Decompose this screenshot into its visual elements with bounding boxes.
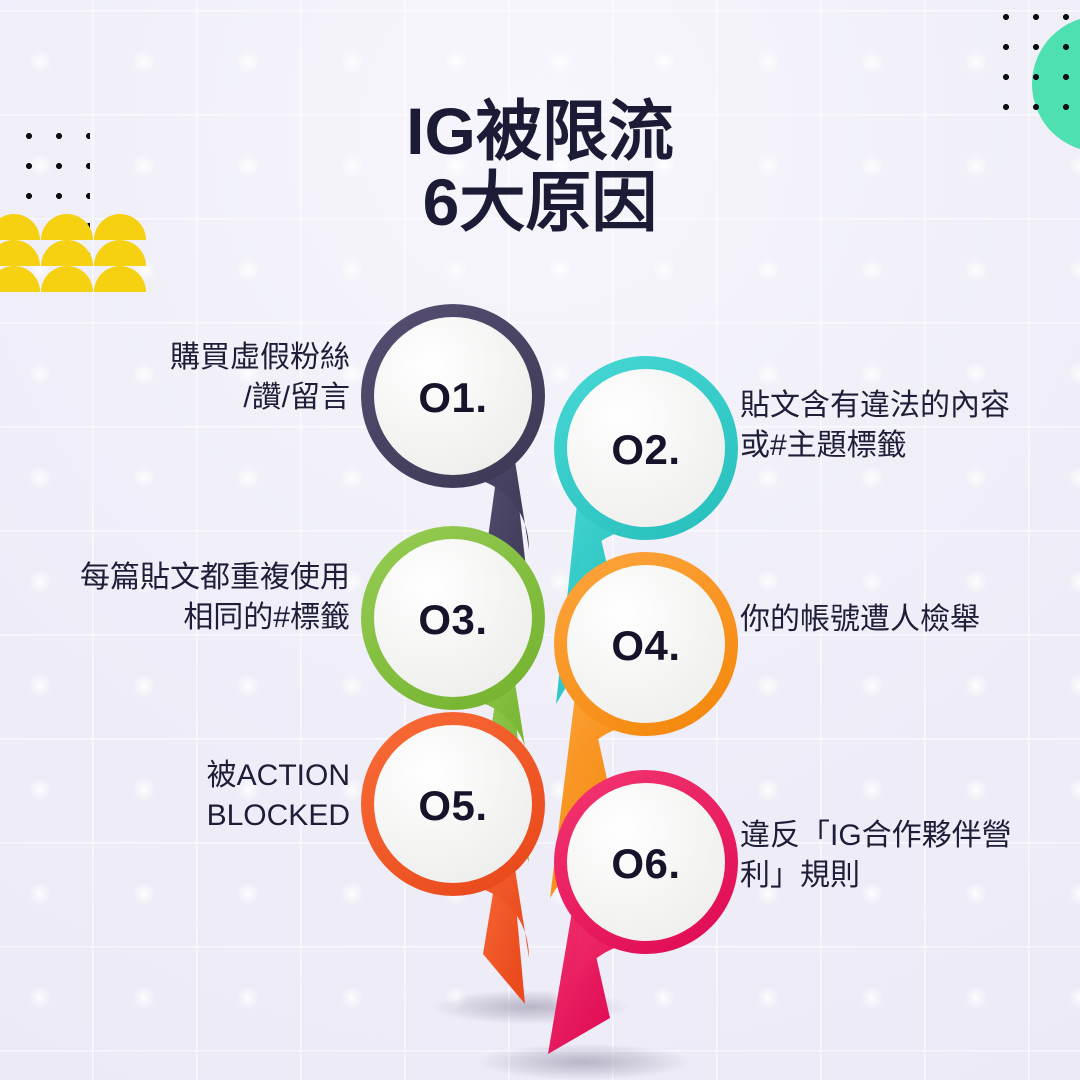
label-item-05: 被ACTION BLOCKED: [60, 756, 350, 835]
dome-shape: [94, 240, 146, 266]
label-item-04: 你的帳號遭人檢舉: [740, 600, 1060, 640]
dome-row: [0, 240, 147, 266]
page-title: IG被限流 6大原因: [0, 96, 1080, 239]
dome-shape: [0, 266, 40, 292]
title-line-1: IG被限流: [0, 96, 1080, 167]
title-line-2: 6大原因: [0, 167, 1080, 238]
pin-06[interactable]: O6.: [520, 766, 740, 1066]
dome-shape: [41, 240, 93, 266]
dome-shape: [41, 266, 93, 292]
label-item-06: 違反「IG合作夥伴營 利」規則: [740, 816, 1060, 895]
label-item-01: 購買虛假粉絲 /讚/留言: [60, 338, 350, 417]
dome-shape: [0, 240, 40, 266]
label-item-03: 每篇貼文都重複使用 相同的#標籤: [42, 558, 350, 637]
dome-row: [0, 266, 147, 292]
pin-06-shape: [520, 766, 740, 1066]
infographic-canvas: IG被限流 6大原因 O1.: [0, 0, 1080, 1080]
label-item-02: 貼文含有違法的內容 或#主題標籤: [740, 386, 1060, 465]
dome-shape: [94, 266, 146, 292]
